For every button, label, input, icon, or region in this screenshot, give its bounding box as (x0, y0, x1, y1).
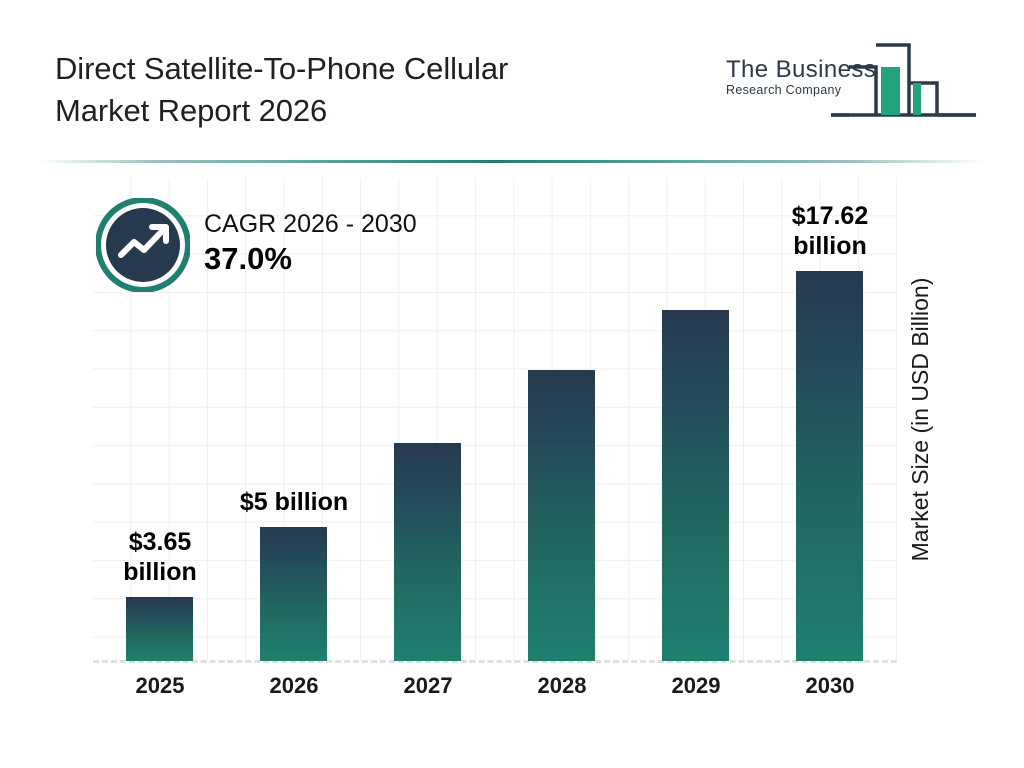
bar-2025[interactable] (126, 597, 193, 661)
page-title-line-2: Market Report 2026 (55, 90, 675, 132)
bar-2029[interactable] (662, 310, 729, 661)
bar-value-label-2026: $5 billion (221, 487, 367, 517)
x-axis-tick-labels: 202520262027202820292030 (93, 673, 897, 713)
y-axis-title: Market Size (in USD Billion) (897, 178, 943, 661)
x-tick-2028: 2028 (495, 673, 629, 699)
x-tick-2030: 2030 (763, 673, 897, 699)
bar-value-label-2025: $3.65 billion (87, 527, 233, 587)
bar-slot: $17.62 billion (763, 178, 897, 661)
bar-2027[interactable] (394, 443, 461, 661)
bar-chart: $3.65 billion$5 billion$17.62 billion 20… (0, 168, 1024, 768)
cagr-text-block: CAGR 2026 - 2030 37.0% (204, 208, 417, 278)
bar-2030[interactable] (796, 271, 863, 661)
x-tick-2026: 2026 (227, 673, 361, 699)
bar-2026[interactable] (260, 527, 327, 661)
bar-slot (629, 178, 763, 661)
trending-up-icon (96, 198, 190, 292)
cagr-value: 37.0% (204, 240, 417, 278)
x-tick-2027: 2027 (361, 673, 495, 699)
page-title: Direct Satellite-To-Phone Cellular Marke… (55, 48, 675, 132)
chart-page: Direct Satellite-To-Phone Cellular Marke… (0, 0, 1024, 768)
header-divider (38, 160, 986, 163)
cagr-badge: CAGR 2026 - 2030 37.0% (96, 198, 516, 298)
header: Direct Satellite-To-Phone Cellular Marke… (0, 0, 1024, 162)
x-tick-2025: 2025 (93, 673, 227, 699)
bar-value-label-2030: $17.62 billion (757, 201, 903, 261)
bar-2028[interactable] (528, 370, 595, 661)
bar-chart-logo-icon (831, 33, 976, 125)
company-logo: The Business Research Company (726, 33, 976, 125)
x-tick-2029: 2029 (629, 673, 763, 699)
page-title-line-1: Direct Satellite-To-Phone Cellular (55, 48, 675, 90)
cagr-range-label: CAGR 2026 - 2030 (204, 208, 417, 240)
